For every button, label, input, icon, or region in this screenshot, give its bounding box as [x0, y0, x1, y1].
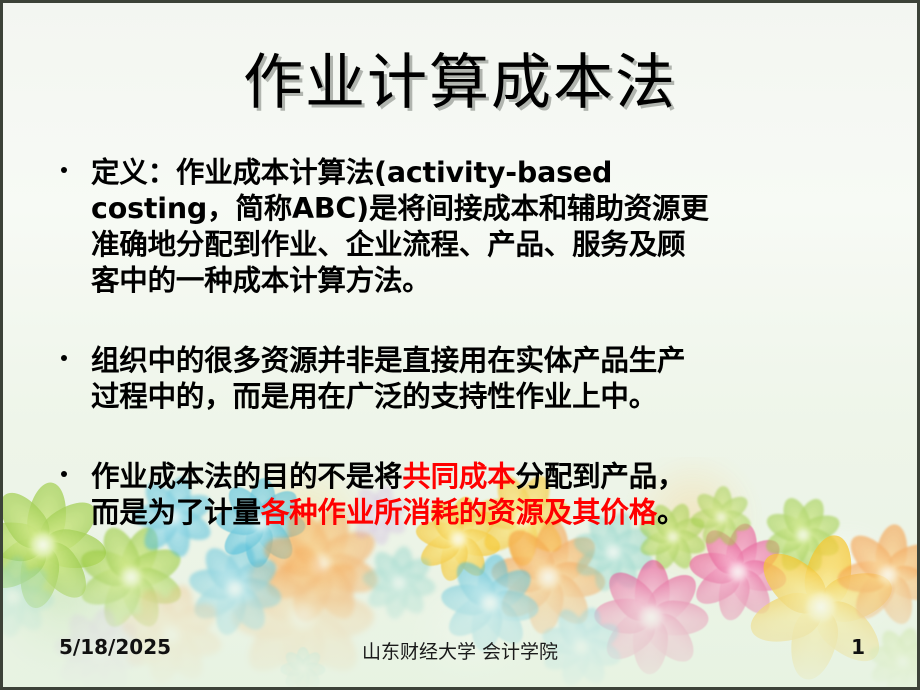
flower-core: [449, 530, 467, 548]
bullet-3-line-1-seg-1: 作业成本法的目的不是将: [91, 460, 402, 493]
bullet-item-3: 作业成本法的目的不是将共同成本分配到产品， 而是为了计量各种作业所消耗的资源及其…: [49, 459, 877, 531]
bullet-3-line-1-seg-3: 分配到产品，: [516, 460, 686, 493]
flower-core: [666, 530, 680, 544]
bullet-2-line-2: 过程中的，而是用在广泛的支持性作业上中。: [91, 379, 877, 415]
bullet-2-line-2-seg-1: 过程中的，而是用在广泛的支持性作业上中。: [91, 380, 657, 413]
flower-petal: [455, 526, 502, 560]
flower-petal: [3, 517, 46, 564]
bullet-marker-icon: [61, 167, 67, 173]
slide-title: 作业计算成本法: [3, 47, 917, 119]
bullet-1-line-2-seg-1: costing，简称ABC)是将间接成本和辅助资源更: [91, 192, 709, 225]
footer-organization: 山东财经大学 会计学院: [3, 637, 917, 664]
bullet-item-1: 定义：作业成本计算法(activity-based costing，简称ABC)…: [49, 155, 877, 299]
bullet-marker-icon: [61, 471, 67, 477]
bullet-1-line-4-seg-1: 客中的一种成本计算方法。: [91, 264, 431, 297]
bullet-2-line-1: 组织中的很多资源并非是直接用在实体产品生产: [91, 343, 877, 379]
bullet-2-line-1-seg-1: 组织中的很多资源并非是直接用在实体产品生产: [91, 344, 685, 377]
flower-petal: [669, 527, 709, 559]
floral-haze-overlay: [3, 567, 917, 687]
bullet-1-line-4: 客中的一种成本计算方法。: [91, 263, 877, 299]
bullet-3-line-1-seg-2-highlight: 共同成本: [402, 460, 515, 493]
slide-footer: 5/18/2025 山东财经大学 会计学院 1: [3, 635, 917, 665]
bullet-item-2: 组织中的很多资源并非是直接用在实体产品生产 过程中的，而是用在广泛的支持性作业上…: [49, 343, 877, 415]
presentation-slide: 作业计算成本法 定义：作业成本计算法(activity-based costin…: [0, 0, 920, 690]
flower-petal: [570, 529, 616, 564]
bullet-3-line-1: 作业成本法的目的不是将共同成本分配到产品，: [91, 459, 877, 495]
bullet-3-line-2-seg-3: 。: [657, 496, 685, 529]
bullet-3-line-2-seg-1: 而是为了计量: [91, 496, 261, 529]
flower-core: [30, 532, 56, 558]
bullet-1-line-3: 准确地分配到作业、企业流程、产品、服务及顾: [91, 227, 877, 263]
footer-page-number: 1: [851, 635, 865, 659]
bullet-3-line-2-seg-2-highlight: 各种作业所消耗的资源及其价格: [261, 496, 657, 529]
flower-petal: [40, 526, 108, 573]
bullet-3-line-2: 而是为了计量各种作业所消耗的资源及其价格。: [91, 495, 877, 531]
flower-petal: [637, 527, 677, 561]
flower-core: [605, 544, 622, 561]
bullet-marker-icon: [61, 355, 67, 361]
bullet-1-line-3-seg-1: 准确地分配到作业、企业流程、产品、服务及顾: [91, 228, 685, 261]
bullet-1-line-2: costing，简称ABC)是将间接成本和辅助资源更: [91, 191, 877, 227]
slide-body: 定义：作业成本计算法(activity-based costing，简称ABC)…: [49, 155, 877, 531]
bullet-1-line-1: 定义：作业成本计算法(activity-based: [91, 155, 877, 191]
bullet-1-line-1-seg-1: 定义：作业成本计算法(activity-based: [91, 156, 612, 189]
